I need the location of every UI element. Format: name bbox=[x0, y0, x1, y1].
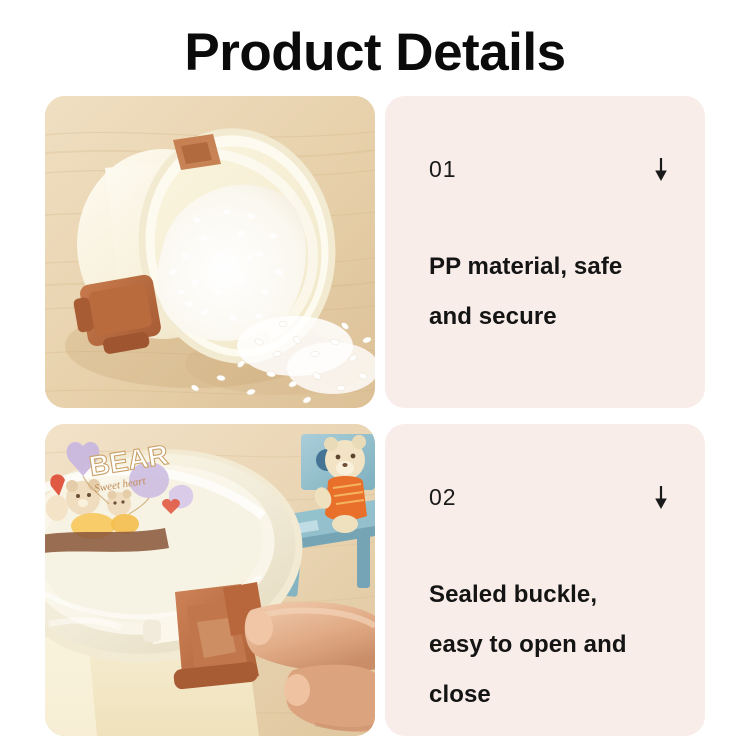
feature-text-02: Sealed buckle, easy to open and close bbox=[429, 570, 669, 720]
rice-container-illustration bbox=[45, 96, 375, 408]
features-grid: 01 PP material, safe and secure bbox=[45, 96, 705, 736]
sealed-buckle-illustration: BEAR Sweet heart bbox=[45, 424, 375, 736]
feature-text-01: PP material, safe and secure bbox=[429, 242, 669, 342]
product-details-page: Product Details bbox=[0, 0, 750, 750]
feature-text-02-line-3: close bbox=[429, 670, 669, 720]
feature-text-01-line-2: and secure bbox=[429, 292, 669, 342]
feature-panel-02: 02 Sealed buckle, easy to open and close bbox=[385, 424, 705, 736]
sealed-buckle-photo: BEAR Sweet heart bbox=[45, 424, 375, 736]
feature-head-01: 01 bbox=[429, 154, 671, 184]
feature-head-02: 02 bbox=[429, 482, 671, 512]
down-arrow-icon bbox=[651, 156, 671, 182]
rice-container-photo bbox=[45, 96, 375, 408]
feature-text-02-line-1: Sealed buckle, bbox=[429, 570, 669, 620]
down-arrow-icon bbox=[651, 484, 671, 510]
page-title: Product Details bbox=[0, 22, 750, 84]
feature-text-01-line-1: PP material, safe bbox=[429, 242, 669, 292]
feature-index-02: 02 bbox=[429, 484, 457, 511]
feature-text-02-line-2: easy to open and bbox=[429, 620, 669, 670]
feature-panel-01: 01 PP material, safe and secure bbox=[385, 96, 705, 408]
feature-index-01: 01 bbox=[429, 156, 457, 183]
